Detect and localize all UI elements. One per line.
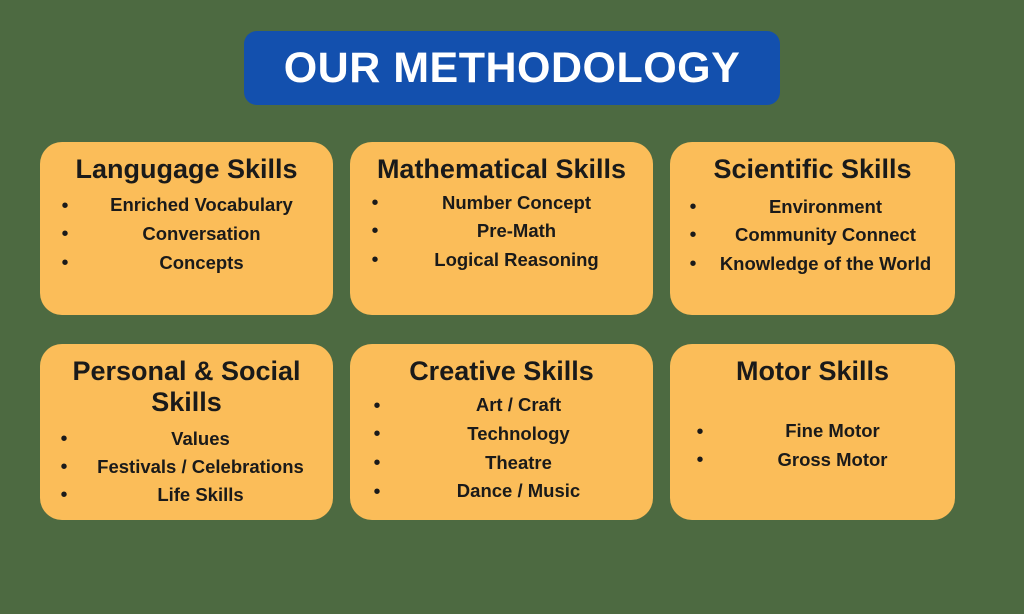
list-item: • Art / Craft [360,391,643,420]
list-item-label: Fine Motor [720,417,945,446]
bullet-icon: • [680,197,706,217]
list-item-label: Logical Reasoning [390,246,643,274]
card-personal-social-skills: Personal & Social Skills • Values • Fest… [40,344,333,520]
list-item-label: Life Skills [78,481,323,509]
card-language-skills: Langugage Skills • Enriched Vocabulary •… [40,142,333,315]
list-item-label: Festivals / Celebrations [78,453,323,481]
list-item: • Environment [680,193,945,221]
card-title-creative-skills: Creative Skills [360,356,643,387]
list-item-label: Dance / Music [394,477,643,506]
card-list-motor-skills: • Fine Motor • Gross Motor [680,417,945,474]
card-scientific-skills: Scientific Skills • Environment • Commun… [670,142,955,315]
card-title-scientific-skills: Scientific Skills [680,154,945,185]
list-item: • Life Skills [50,481,323,509]
card-list-language-skills: • Enriched Vocabulary • Conversation • C… [50,191,323,277]
list-item-label: Knowledge of the World [706,250,945,278]
list-item-label: Theatre [394,449,643,478]
card-title-personal-social-skills: Personal & Social Skills [50,356,323,419]
skills-card-grid: Langugage Skills • Enriched Vocabulary •… [40,142,955,520]
list-item-label: Enriched Vocabulary [80,191,323,220]
bullet-icon: • [680,450,720,470]
card-list-scientific-skills: • Environment • Community Connect • Know… [680,193,945,277]
methodology-poster: OUR METHODOLOGY Langugage Skills • Enric… [0,0,1024,614]
list-item: • Conversation [50,220,323,249]
list-item: • Number Concept [360,189,643,217]
list-item: • Concepts [50,249,323,278]
list-item-label: Values [78,425,323,453]
list-item-label: Conversation [80,220,323,249]
card-list-creative-skills: • Art / Craft • Technology • Theatre • D… [360,391,643,506]
list-item: • Gross Motor [680,446,945,475]
bullet-icon: • [680,225,706,245]
card-motor-skills: Motor Skills • Fine Motor • Gross Motor [670,344,955,520]
list-item: • Theatre [360,449,643,478]
bullet-icon: • [360,482,394,502]
card-mathematical-skills: Mathematical Skills • Number Concept • P… [350,142,653,315]
list-item-label: Art / Craft [394,391,643,420]
title-banner: OUR METHODOLOGY [244,31,781,105]
list-item: • Logical Reasoning [360,246,643,274]
list-item-label: Number Concept [390,189,643,217]
list-item: • Values [50,425,323,453]
list-item: • Enriched Vocabulary [50,191,323,220]
card-creative-skills: Creative Skills • Art / Craft • Technolo… [350,344,653,520]
card-title-mathematical-skills: Mathematical Skills [360,154,643,185]
list-item-label: Concepts [80,249,323,278]
list-item: • Knowledge of the World [680,250,945,278]
list-item-label: Community Connect [706,221,945,249]
bullet-icon: • [50,457,78,477]
page-title: OUR METHODOLOGY [284,47,741,90]
bullet-icon: • [360,424,394,444]
card-title-motor-skills: Motor Skills [680,356,945,387]
bullet-icon: • [360,221,390,241]
bullet-icon: • [360,250,390,270]
list-item: • Technology [360,420,643,449]
bullet-icon: • [680,422,720,442]
card-list-personal-social-skills: • Values • Festivals / Celebrations • Li… [50,425,323,509]
card-title-language-skills: Langugage Skills [50,154,323,185]
bullet-icon: • [360,396,394,416]
bullet-icon: • [50,253,80,273]
list-item: • Fine Motor [680,417,945,446]
list-item-label: Pre-Math [390,217,643,245]
bullet-icon: • [50,224,80,244]
list-item: • Pre-Math [360,217,643,245]
title-banner-wrapper: OUR METHODOLOGY [0,31,1024,105]
list-item: • Community Connect [680,221,945,249]
bullet-icon: • [50,485,78,505]
bullet-icon: • [360,453,394,473]
bullet-icon: • [50,429,78,449]
list-item-label: Environment [706,193,945,221]
bullet-icon: • [50,196,80,216]
list-item: • Dance / Music [360,477,643,506]
list-item-label: Gross Motor [720,446,945,475]
card-list-mathematical-skills: • Number Concept • Pre-Math • Logical Re… [360,189,643,273]
bullet-icon: • [360,193,390,213]
bullet-icon: • [680,254,706,274]
list-item-label: Technology [394,420,643,449]
list-item: • Festivals / Celebrations [50,453,323,481]
